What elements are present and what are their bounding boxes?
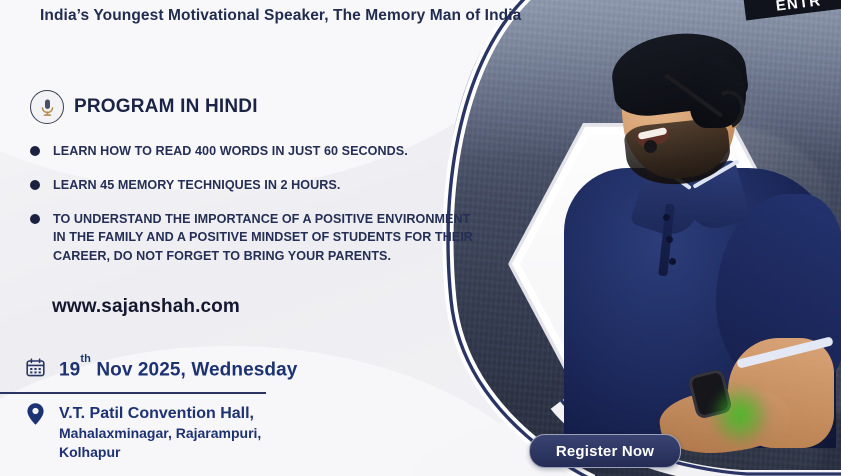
program-row: PROGRAM IN HINDI [30, 90, 258, 124]
list-item: LEARN HOW TO READ 400 WORDS IN JUST 60 S… [30, 142, 485, 160]
speaker-button-3 [669, 258, 676, 265]
feature-list: LEARN HOW TO READ 400 WORDS IN JUST 60 S… [30, 142, 485, 281]
program-label: PROGRAM IN HINDI [74, 96, 258, 118]
calendar-icon [26, 358, 45, 382]
event-venue-row: V.T. Patil Convention Hall, Mahalaxminag… [26, 402, 261, 462]
event-venue-lines: V.T. Patil Convention Hall, Mahalaxminag… [59, 402, 261, 462]
speaker-portrait [540, 18, 840, 438]
list-item: LEARN 45 MEMORY TECHNIQUES IN 2 HOURS. [30, 176, 485, 194]
page-title: India’s Youngest Motivational Speaker, T… [40, 7, 520, 25]
list-item-text: LEARN HOW TO READ 400 WORDS IN JUST 60 S… [53, 142, 408, 160]
bullet-dot-icon [30, 146, 40, 156]
speaker-button-2 [666, 236, 673, 243]
register-now-button[interactable]: Register Now [529, 434, 681, 468]
list-item: TO UNDERSTAND THE IMPORTANCE OF A POSITI… [30, 210, 485, 264]
bullet-dot-icon [30, 180, 40, 190]
event-date-ordinal: th [80, 353, 91, 365]
bullet-dot-icon [30, 214, 40, 224]
microphone-icon [30, 90, 64, 124]
list-item-text: LEARN 45 MEMORY TECHNIQUES IN 2 HOURS. [53, 176, 340, 194]
venue-line-1: V.T. Patil Convention Hall, [59, 403, 261, 424]
venue-line-2: Mahalaxminagar, Rajarampuri, [59, 424, 261, 443]
green-light-flare [712, 386, 768, 444]
location-pin-icon [26, 402, 45, 431]
event-date-row: 19th Nov 2025, Wednesday [26, 358, 297, 382]
venue-line-3: Kolhapur [59, 443, 261, 462]
speaker-button-1 [663, 214, 670, 221]
event-date-day: 19 [59, 359, 80, 380]
divider [0, 392, 266, 394]
website-url[interactable]: www.sajanshah.com [52, 296, 240, 318]
event-date-text: 19th Nov 2025, Wednesday [59, 359, 297, 381]
headset-mic-icon [644, 140, 657, 153]
event-date-rest: Nov 2025, Wednesday [91, 359, 298, 380]
list-item-text: TO UNDERSTAND THE IMPORTANCE OF A POSITI… [53, 210, 485, 264]
event-poster: ENTR India’s Youngest Motivational Speak… [0, 0, 841, 476]
